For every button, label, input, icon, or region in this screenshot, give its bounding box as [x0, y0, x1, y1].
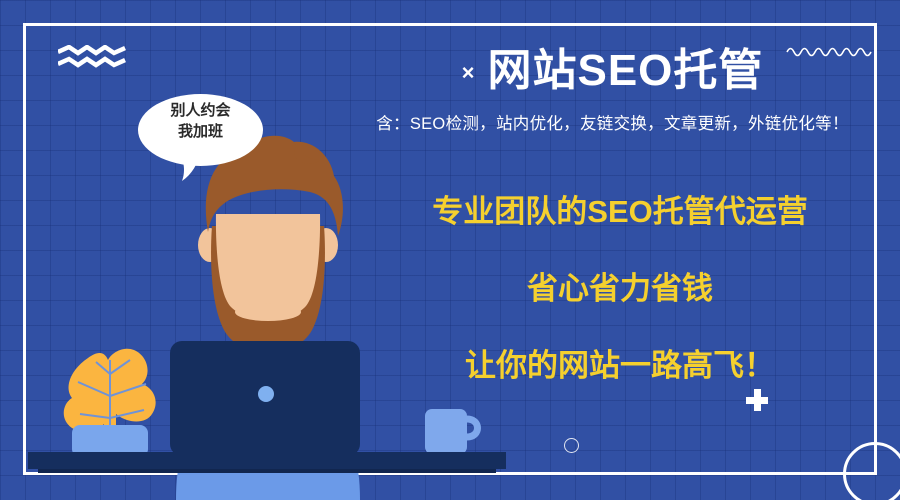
corner-circle-icon	[843, 442, 900, 500]
desk-icon	[28, 452, 506, 469]
page-title-text: 网站SEO托管	[487, 46, 763, 95]
potted-plant-icon	[64, 349, 156, 457]
slogan-line-2: 省心省力省钱	[370, 269, 870, 309]
circle-outline-icon	[564, 438, 579, 453]
slogan-line-3: 让你的网站一路高飞！	[370, 346, 870, 386]
slogan-line-1: 专业团队的SEO托管代运营	[370, 192, 870, 232]
laptop-icon	[170, 341, 360, 456]
page-subtitle: 含：SEO检测，站内优化，友链交换，文章更新，外链优化等！	[340, 112, 885, 136]
plus-icon	[746, 389, 768, 411]
speech-bubble-line-1: 别人约会	[138, 100, 263, 121]
speech-bubble-tail	[176, 150, 202, 182]
speech-bubble-line-2: 我加班	[138, 121, 263, 142]
coffee-mug-icon	[425, 409, 478, 454]
page-title: ×网站SEO托管	[340, 44, 885, 100]
seo-banner: 别人约会 我加班 ×网站SEO托管 含：SEO检测，站内优化，友链交换，文章更新…	[0, 0, 900, 500]
speech-bubble-text: 别人约会 我加班	[138, 100, 263, 142]
desk-shadow	[38, 469, 496, 473]
x-mark-icon: ×	[462, 46, 476, 100]
headline-block: ×网站SEO托管 含：SEO检测，站内优化，友链交换，文章更新，外链优化等！	[340, 44, 885, 136]
slogan-block: 专业团队的SEO托管代运营 省心省力省钱 让你的网站一路高飞！	[370, 192, 870, 386]
